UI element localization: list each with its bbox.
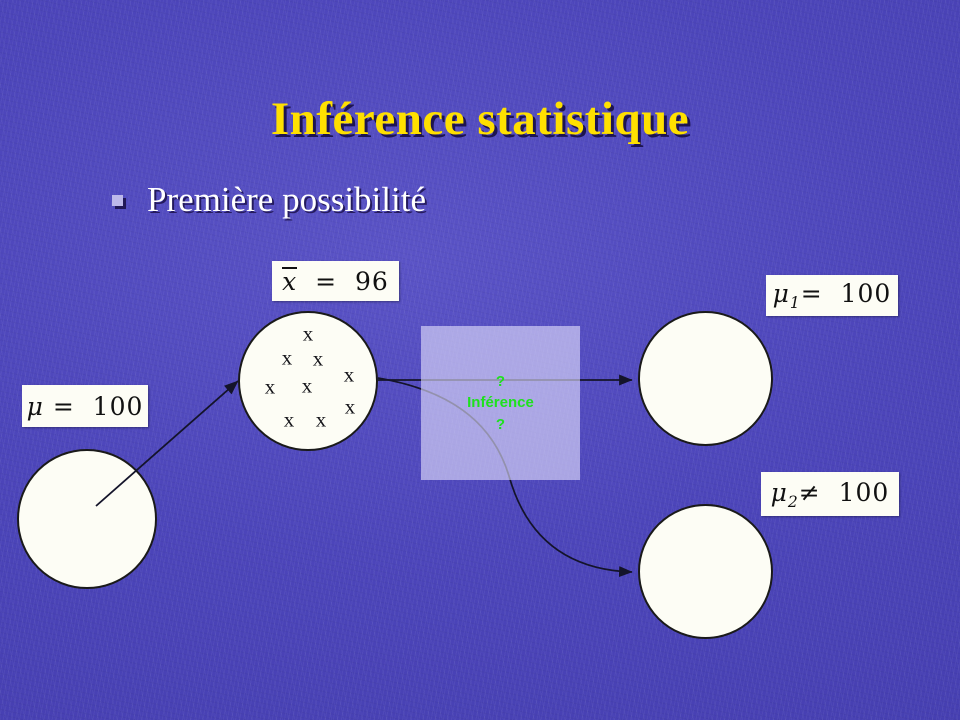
mu-symbol: μ xyxy=(27,392,44,421)
sample-mean-value: 96 xyxy=(355,267,389,296)
equals-sign: = xyxy=(801,279,823,308)
bullet-label: Première possibilité xyxy=(147,180,426,220)
x-bar-symbol: x xyxy=(282,267,297,294)
sample-observation-mark: x xyxy=(316,410,327,431)
formula-population-mu-text: μ = 100 xyxy=(27,392,144,421)
formula-population-mu: μ = 100 xyxy=(22,385,148,427)
formula-hypothesis-1-text: μ1= 100 xyxy=(773,279,892,312)
sample-observation-mark: x xyxy=(282,348,293,369)
mu-subscript: 1 xyxy=(790,294,801,312)
formula-hypothesis-2-text: μ2≠ 100 xyxy=(771,478,890,511)
sample-observation-mark: x xyxy=(302,376,313,397)
bullet-row: Première possibilité xyxy=(112,180,426,220)
hypothesis-2-value: 100 xyxy=(839,478,890,507)
sample-observation-mark: x xyxy=(303,324,314,345)
inference-overlay-box: ? Inférence ? xyxy=(421,326,580,480)
inference-question-top: ? xyxy=(496,371,505,392)
page-title: Inférence statistique xyxy=(0,92,960,146)
formula-hypothesis-1: μ1= 100 xyxy=(766,275,898,316)
equals-sign: = xyxy=(315,267,337,296)
hypothesis-2-circle xyxy=(638,504,773,639)
mu-subscript: 2 xyxy=(788,493,799,511)
sample-observation-mark: x xyxy=(344,365,355,386)
population-circle xyxy=(17,449,157,589)
equals-sign: = xyxy=(53,392,75,421)
sample-observation-mark: x xyxy=(313,349,324,370)
formula-sample-mean: x = 96 xyxy=(272,261,399,301)
mu-symbol: μ xyxy=(771,478,788,507)
inference-question-bottom: ? xyxy=(496,414,505,435)
formula-sample-mean-text: x = 96 xyxy=(282,267,389,296)
sample-observation-mark: x xyxy=(265,377,276,398)
square-bullet-icon xyxy=(112,195,123,206)
formula-hypothesis-2: μ2≠ 100 xyxy=(761,472,899,516)
not-equals-sign: ≠ xyxy=(799,478,821,507)
hypothesis-1-circle xyxy=(638,311,773,446)
sample-observation-mark: x xyxy=(345,397,356,418)
sample-circle: xxxxxxxxx xyxy=(238,311,378,451)
slide-canvas: Inférence statistique Première possibili… xyxy=(0,0,960,720)
inference-label: Inférence xyxy=(467,392,534,413)
hypothesis-1-value: 100 xyxy=(841,279,892,308)
mu-symbol: μ xyxy=(773,279,790,308)
population-mu-value: 100 xyxy=(93,392,144,421)
sample-observation-mark: x xyxy=(284,410,295,431)
